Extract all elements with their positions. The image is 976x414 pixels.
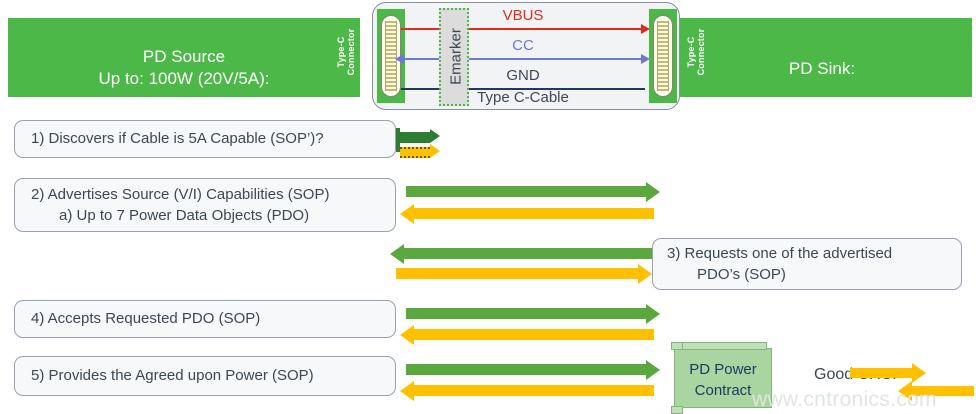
step-2-green-tip-icon bbox=[646, 182, 660, 202]
step-3-text-line1: 3) Requests one of the advertised bbox=[667, 245, 892, 262]
step-2-yellow-tip-icon bbox=[400, 204, 414, 224]
source-type-c-connector-label: Type-C Connector bbox=[336, 14, 356, 90]
pd-sink-title: PD Sink: bbox=[672, 58, 972, 80]
step-2-text-line2: a) Up to 7 Power Data Objects (PDO) bbox=[59, 207, 309, 224]
step-1-text: 1) Discovers if Cable is 5A Capable (SOP… bbox=[31, 130, 324, 147]
cc-arrowhead-right-icon bbox=[641, 54, 650, 64]
emarker-label: Emarker bbox=[448, 22, 465, 92]
step-4-green-shaft bbox=[406, 308, 646, 319]
step-3-box[interactable]: 3) Requests one of the advertised PDO’s … bbox=[652, 238, 962, 290]
step-1-green-shaft bbox=[400, 132, 430, 143]
note-curl-bottom-left-icon bbox=[671, 406, 683, 414]
step-1-yellow-shaft bbox=[400, 147, 430, 158]
step-4-yellow-shaft bbox=[414, 329, 654, 340]
step-4-yellow-tip-icon bbox=[400, 325, 414, 345]
pd-source-panel: PD Source Up to: 100W (20V/5A): bbox=[8, 18, 360, 97]
site-watermark: www.cntronics.com bbox=[752, 388, 937, 412]
cc-line bbox=[401, 58, 645, 60]
signal-label-vbus: VBUS bbox=[401, 7, 645, 24]
step-5-text: 5) Provides the Agreed upon Power (SOP) bbox=[31, 367, 314, 384]
vbus-arrowhead-right-icon bbox=[641, 24, 650, 34]
step-1-yellow-tip-icon bbox=[430, 144, 440, 158]
step-5-yellow-shaft bbox=[414, 385, 654, 396]
step-4-green-tip-icon bbox=[646, 304, 660, 324]
cable-label: Type C-Cable bbox=[401, 89, 645, 106]
good-crc-top-tip-icon bbox=[912, 363, 926, 383]
pd-sink-panel: PD Sink: bbox=[672, 18, 972, 97]
note-curl-top-left-icon bbox=[671, 342, 683, 350]
step-3-text-line2: PDO’s (SOP) bbox=[697, 266, 786, 283]
step-3-green-shaft bbox=[404, 248, 652, 259]
sink-type-c-connector-label: Type-C Connector bbox=[686, 14, 706, 90]
pd-source-line1: PD Source bbox=[8, 46, 360, 68]
pd-sink-line1: PD Sink: bbox=[672, 58, 972, 80]
pin-rows-right bbox=[657, 21, 669, 91]
step-1-box[interactable]: 1) Discovers if Cable is 5A Capable (SOP… bbox=[14, 120, 396, 158]
pd-source-line2: Up to: 100W (20V/5A): bbox=[8, 68, 360, 90]
connector-pins-right-icon bbox=[653, 15, 673, 97]
step-5-box[interactable]: 5) Provides the Agreed upon Power (SOP) bbox=[14, 356, 396, 396]
gnd-line bbox=[401, 88, 645, 90]
step-5-green-tip-icon bbox=[646, 360, 660, 380]
type-c-cable-body: VBUS CC GND Type C-Cable Emarker bbox=[372, 2, 680, 110]
step-2-green-shaft bbox=[406, 186, 646, 197]
emarker-chip: Emarker bbox=[439, 8, 469, 106]
sink-connector-label-line1: Type-C bbox=[686, 14, 696, 90]
step-1-green-tip-icon bbox=[430, 129, 440, 143]
note-line1: PD Power bbox=[675, 359, 771, 380]
cc-arrowhead-left-icon bbox=[395, 54, 404, 64]
step-5-green-shaft bbox=[406, 364, 646, 375]
sink-connector-label-line2: Connector bbox=[696, 14, 706, 90]
source-connector-label-line2: Connector bbox=[346, 14, 356, 90]
pd-negotiation-diagram: PD Source Up to: 100W (20V/5A): Type-C C… bbox=[0, 0, 976, 414]
step-4-text: 4) Accepts Requested PDO (SOP) bbox=[31, 310, 260, 327]
vbus-line bbox=[401, 28, 645, 30]
pd-source-title: PD Source Up to: 100W (20V/5A): bbox=[8, 46, 360, 90]
step-2-yellow-shaft bbox=[414, 208, 654, 219]
good-crc-top-shaft bbox=[850, 368, 912, 378]
signal-label-gnd: GND bbox=[401, 67, 645, 84]
step-5-yellow-tip-icon bbox=[400, 381, 414, 401]
step-4-box[interactable]: 4) Accepts Requested PDO (SOP) bbox=[14, 300, 396, 338]
step-3-yellow-tip-icon bbox=[638, 264, 652, 284]
signal-label-cc: CC bbox=[401, 37, 645, 54]
note-top-bar bbox=[681, 342, 767, 350]
step-2-box[interactable]: 2) Advertises Source (V/I) Capabilities … bbox=[14, 178, 396, 232]
step-3-yellow-shaft bbox=[396, 268, 638, 279]
step-2-text-line1: 2) Advertises Source (V/I) Capabilities … bbox=[31, 186, 329, 203]
step-3-green-tip-icon bbox=[390, 244, 404, 264]
source-connector-label-line1: Type-C bbox=[336, 14, 346, 90]
